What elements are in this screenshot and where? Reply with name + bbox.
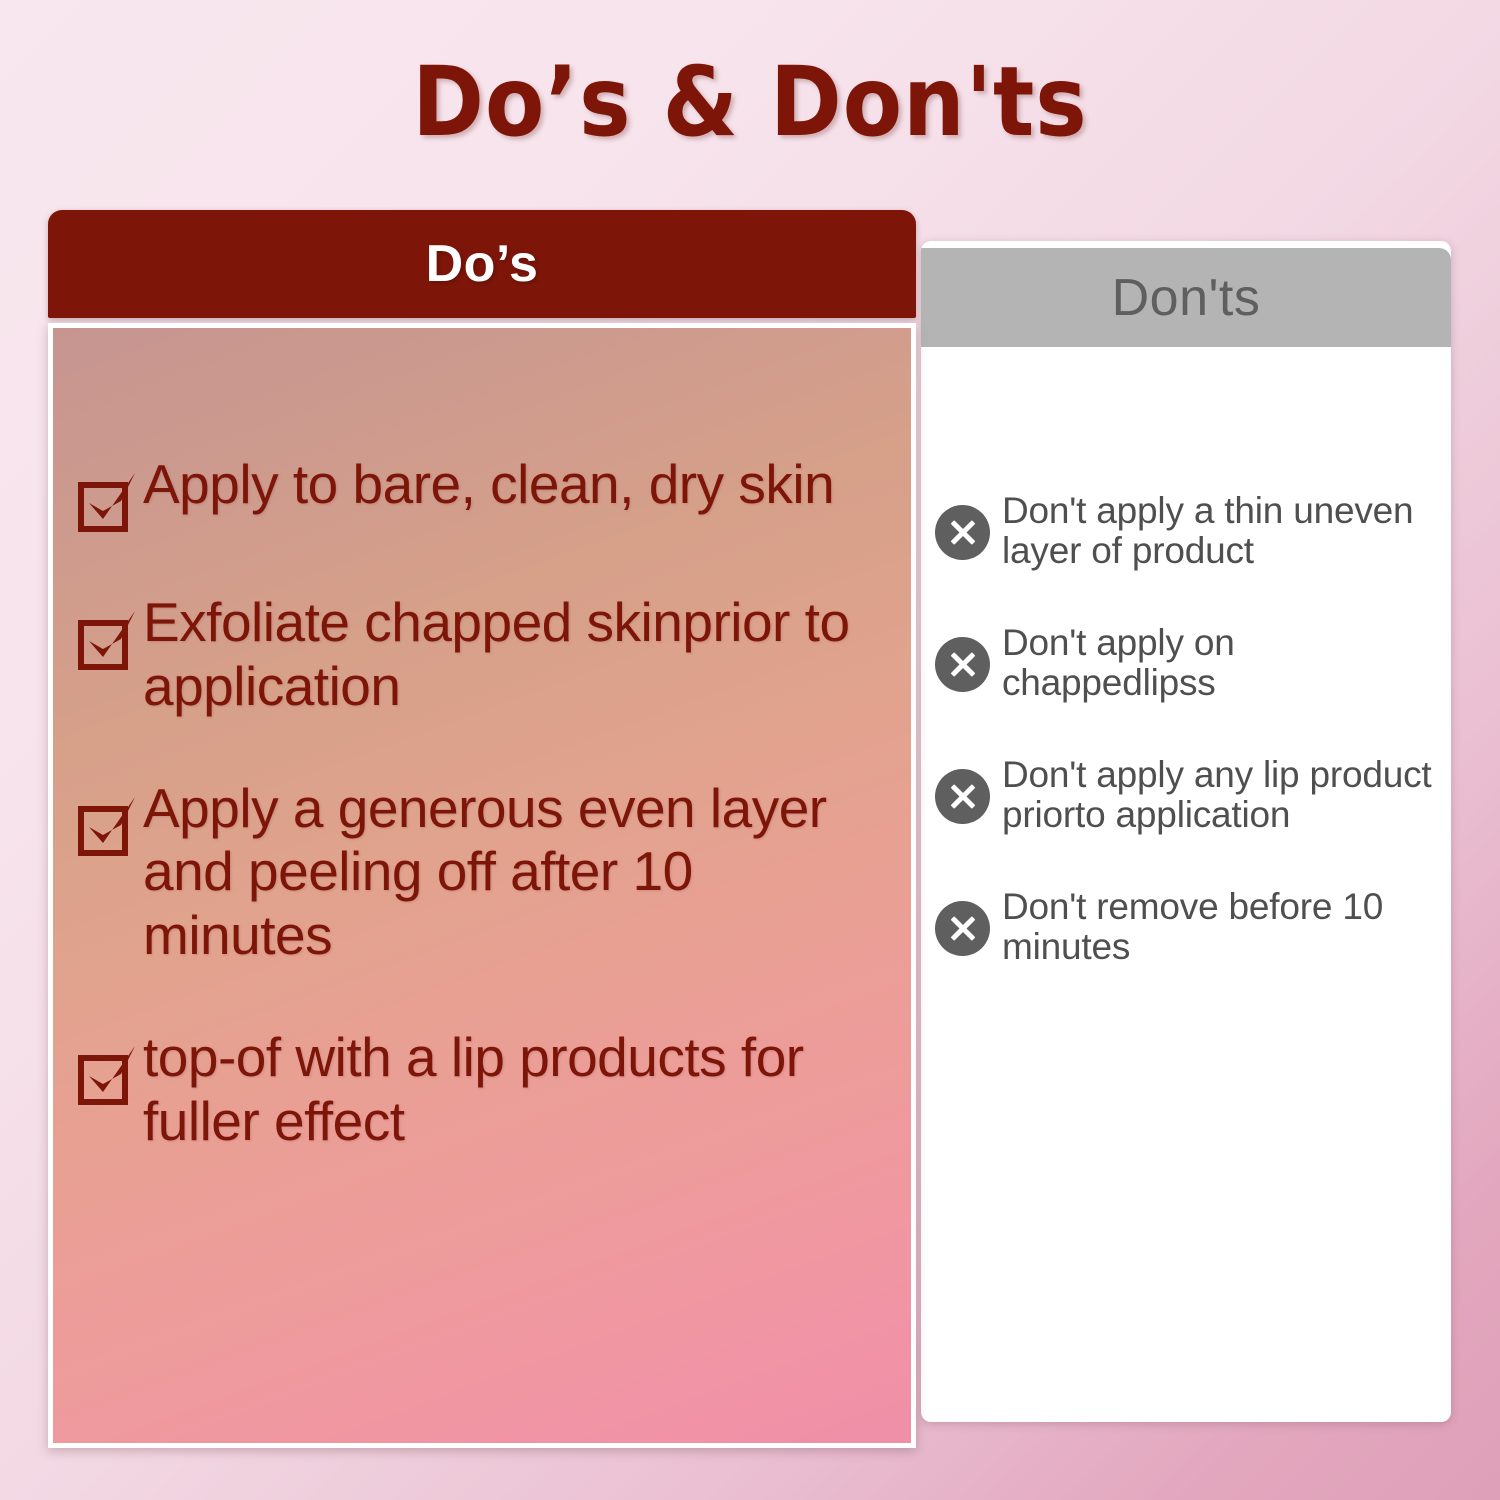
x-circle-icon (935, 901, 990, 956)
donts-header: Don'ts (921, 248, 1451, 347)
list-item: Apply to bare, clean, dry skin (77, 453, 897, 533)
checkbox-checked-icon (77, 1044, 139, 1106)
list-item: Don't apply any lip product priorto appl… (935, 755, 1447, 835)
donts-item-label: Don't apply a thin uneven layer of produ… (1002, 491, 1432, 571)
list-item: Don't remove before 10 minutes (935, 887, 1447, 967)
donts-item-label: Don't apply on chappedlipss (1002, 623, 1432, 703)
dos-item-label: Apply to bare, clean, dry skin (143, 453, 834, 517)
donts-item-label: Don't apply any lip product priorto appl… (1002, 755, 1432, 835)
donts-item-label: Don't remove before 10 minutes (1002, 887, 1432, 967)
dos-header-label: Do’s (426, 234, 539, 294)
donts-list: Don't apply a thin uneven layer of produ… (935, 491, 1447, 1019)
page-title: Do’s & Don'ts (0, 46, 1500, 158)
dos-item-label: Exfoliate chapped skinprior to applicati… (143, 591, 883, 719)
dos-item-label: Apply a generous even layer and peeling … (143, 777, 883, 968)
dos-header: Do’s (48, 210, 916, 318)
list-item: Don't apply on chappedlipss (935, 623, 1447, 703)
dos-card: Do’s Apply to bare, clean, dry skin (48, 210, 916, 1448)
checkbox-checked-icon (77, 795, 139, 857)
dos-body: Apply to bare, clean, dry skin Exfoliate… (48, 323, 916, 1448)
checkbox-checked-icon (77, 609, 139, 671)
donts-header-label: Don'ts (1112, 268, 1261, 328)
x-circle-icon (935, 637, 990, 692)
list-item: Don't apply a thin uneven layer of produ… (935, 491, 1447, 571)
list-item: Apply a generous even layer and peeling … (77, 777, 897, 968)
checkbox-checked-icon (77, 471, 139, 533)
dos-item-label: top-of with a lip products for fuller ef… (143, 1026, 883, 1154)
x-circle-icon (935, 505, 990, 560)
dos-list: Apply to bare, clean, dry skin Exfoliate… (77, 453, 897, 1212)
list-item: Exfoliate chapped skinprior to applicati… (77, 591, 897, 719)
x-circle-icon (935, 769, 990, 824)
list-item: top-of with a lip products for fuller ef… (77, 1026, 897, 1154)
donts-card: Don'ts Don't apply a thin uneven layer o… (921, 241, 1451, 1422)
